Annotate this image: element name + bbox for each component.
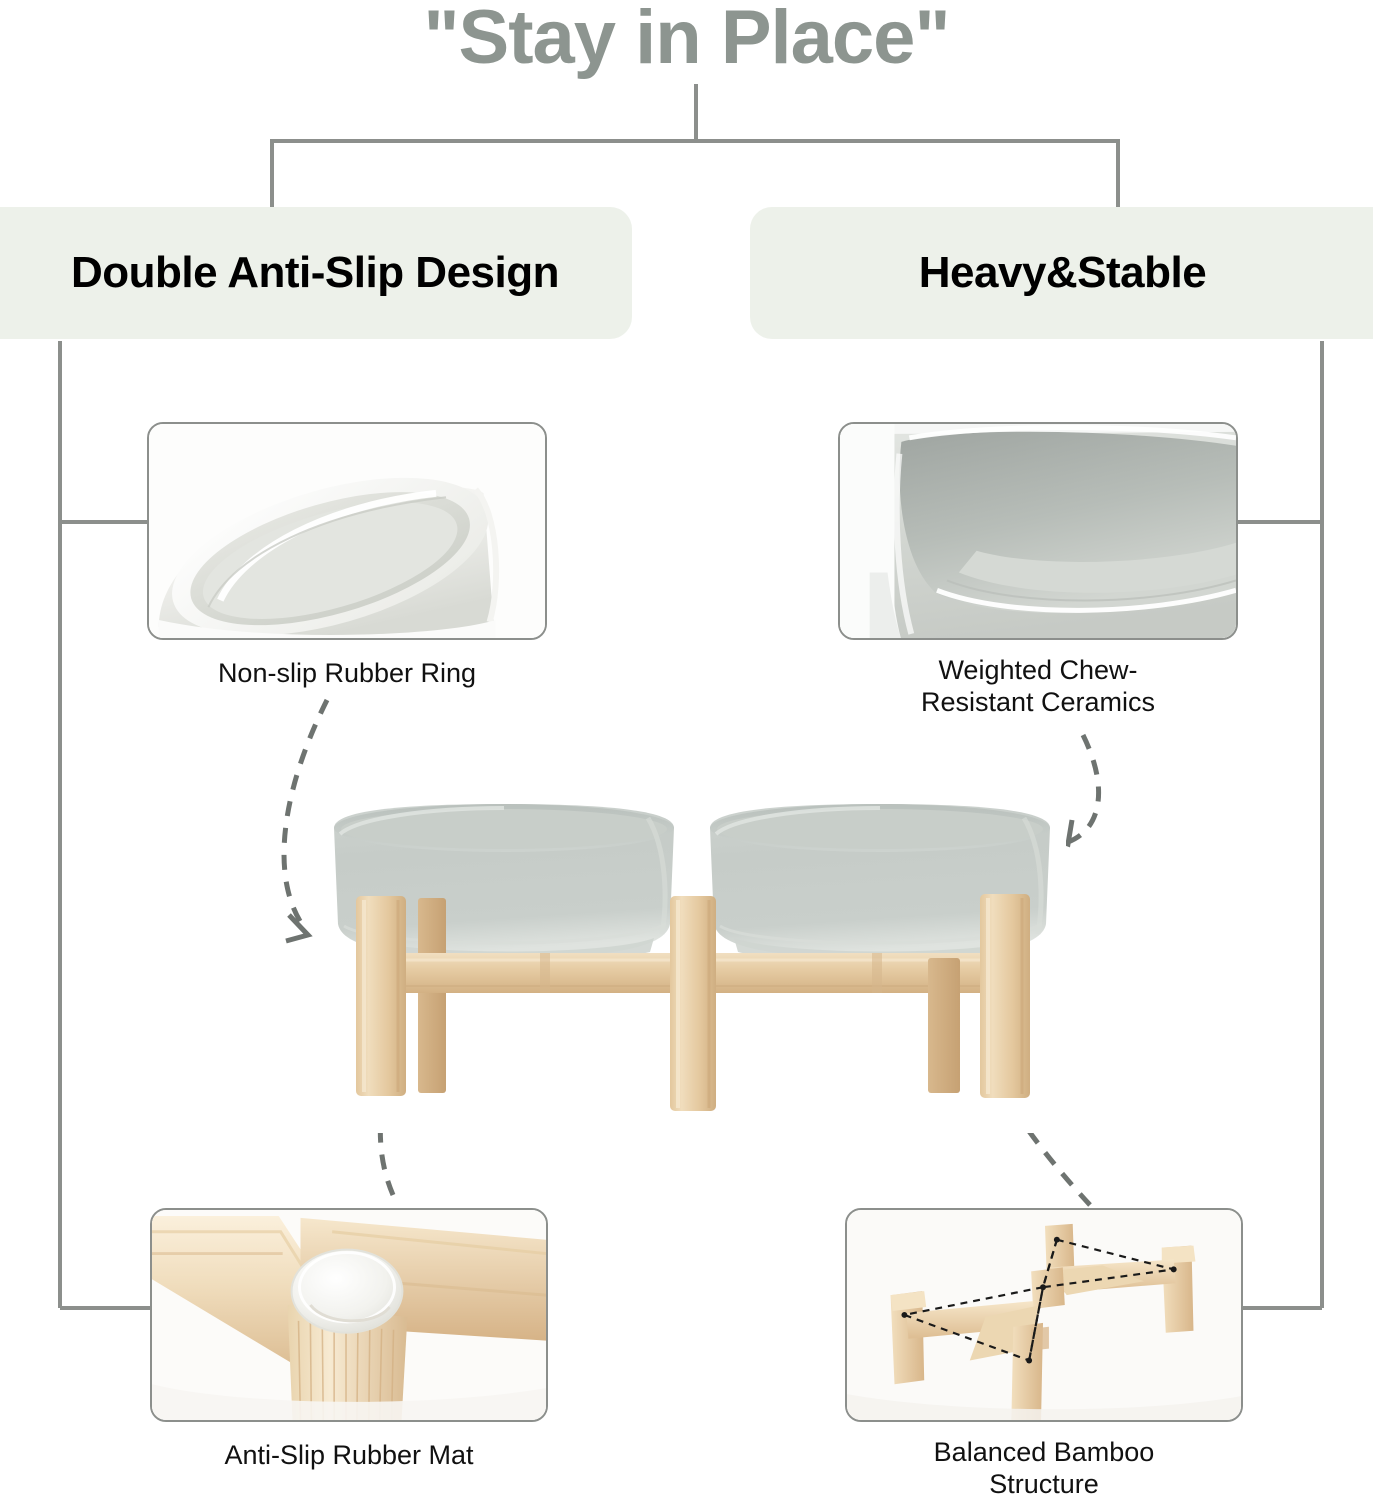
header-pill-double-anti-slip-design[interactable]: Double Anti-Slip Design (0, 207, 632, 339)
feature-photo-card-non-slip-rubber-ring[interactable] (147, 422, 547, 640)
bamboo-stand-underside-photo (847, 1210, 1241, 1422)
elevated-double-ceramic-bowl-bamboo-stand-photo (318, 788, 1066, 1133)
caption-line: Balanced Bamboo (845, 1437, 1243, 1469)
header-pill-heavy-and-stable[interactable]: Heavy&Stable (750, 207, 1373, 339)
header-pill-label: Heavy&Stable (750, 248, 1373, 298)
caption-line: Non-slip Rubber Ring (147, 658, 547, 690)
feature-caption-anti-slip-rubber-mat: Anti-Slip Rubber Mat (150, 1440, 548, 1472)
infographic-page: "Stay in Place" (0, 0, 1373, 1500)
feature-caption-weighted-chew-resistant-ceramics: Weighted Chew- Resistant Ceramics (838, 655, 1238, 719)
feature-photo-card-anti-slip-rubber-mat[interactable] (150, 1208, 548, 1422)
bowl-underside-rubber-ring-photo (149, 424, 545, 640)
bamboo-leg-rubber-pad-photo (152, 1210, 546, 1422)
feature-caption-balanced-bamboo-structure: Balanced Bamboo Structure (845, 1437, 1243, 1500)
feature-photo-card-balanced-bamboo-structure[interactable] (845, 1208, 1243, 1422)
feature-caption-non-slip-rubber-ring: Non-slip Rubber Ring (147, 658, 547, 690)
ceramic-bowl-interior-photo (840, 424, 1236, 640)
caption-line: Anti-Slip Rubber Mat (150, 1440, 548, 1472)
caption-line: Weighted Chew- (838, 655, 1238, 687)
feature-photo-card-weighted-chew-resistant-ceramics[interactable] (838, 422, 1238, 640)
header-pill-label: Double Anti-Slip Design (0, 248, 632, 298)
caption-line: Resistant Ceramics (838, 687, 1238, 719)
caption-line: Structure (845, 1469, 1243, 1500)
